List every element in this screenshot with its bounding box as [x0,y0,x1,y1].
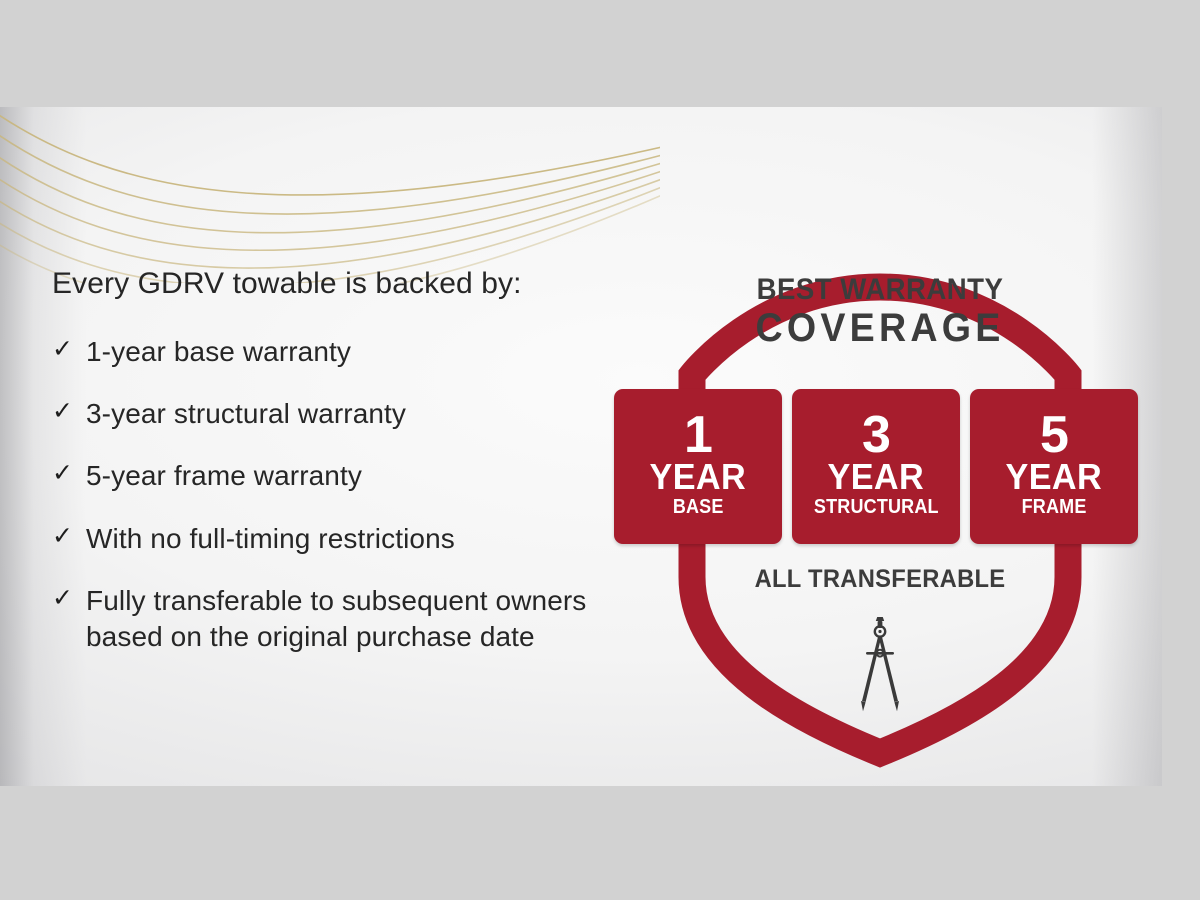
warranty-copy-column: Every GDRV towable is backed by: ✓ 1-yea… [52,267,652,682]
warranty-tiles: 1 YEAR BASE 3 YEAR STRUCTURAL 5 YEAR FRA… [614,389,1162,544]
list-item-label: 1-year base warranty [86,334,351,370]
tile-number: 5 [1040,411,1068,461]
page-title: Every GDRV towable is backed by: [52,267,652,302]
warranty-tile-base: 1 YEAR BASE [614,389,782,544]
tile-sub-label: STRUCTURAL [814,497,939,518]
check-icon: ✓ [52,583,86,614]
tile-sub-label: BASE [673,497,724,518]
list-item-label: 5-year frame warranty [86,458,362,494]
list-item: ✓ With no full-timing restrictions [52,521,652,557]
screenshot-canvas: Every GDRV towable is backed by: ✓ 1-yea… [0,0,1200,900]
warranty-tile-structural: 3 YEAR STRUCTURAL [792,389,960,544]
list-item: ✓ Fully transferable to subsequent owner… [52,583,652,656]
tile-number: 3 [862,411,890,461]
badge-title-line1: BEST WARRANTY [622,275,1137,306]
gold-swoosh-decoration [0,107,660,283]
list-item: ✓ 5-year frame warranty [52,458,652,494]
list-item: ✓ 1-year base warranty [52,334,652,370]
list-item-label: With no full-timing restrictions [86,521,455,557]
warranty-shield-badge: BEST WARRANTY COVERAGE 1 YEAR BASE 3 YEA… [600,225,1160,785]
list-item-label: 3-year structural warranty [86,396,406,432]
tile-sub-label: FRAME [1022,497,1087,518]
tile-year-label: YEAR [650,459,747,495]
check-icon: ✓ [52,521,86,552]
check-icon: ✓ [52,396,86,427]
list-item-label: Fully transferable to subsequent owners … [86,583,652,656]
badge-footer-label: ALL TRANSFERABLE [614,565,1146,594]
tile-year-label: YEAR [1006,459,1103,495]
check-icon: ✓ [52,334,86,365]
drafting-compass-icon [848,615,912,715]
badge-title: BEST WARRANTY COVERAGE [600,275,1160,349]
check-icon: ✓ [52,458,86,489]
warranty-slide: Every GDRV towable is backed by: ✓ 1-yea… [0,107,1162,786]
tile-number: 1 [684,411,712,461]
badge-title-line2: COVERAGE [617,307,1143,349]
list-item: ✓ 3-year structural warranty [52,396,652,432]
campers-inn-rv-logo: campers inn RV ® [962,785,1152,786]
warranty-tile-frame: 5 YEAR FRAME [970,389,1138,544]
tile-year-label: YEAR [828,459,925,495]
